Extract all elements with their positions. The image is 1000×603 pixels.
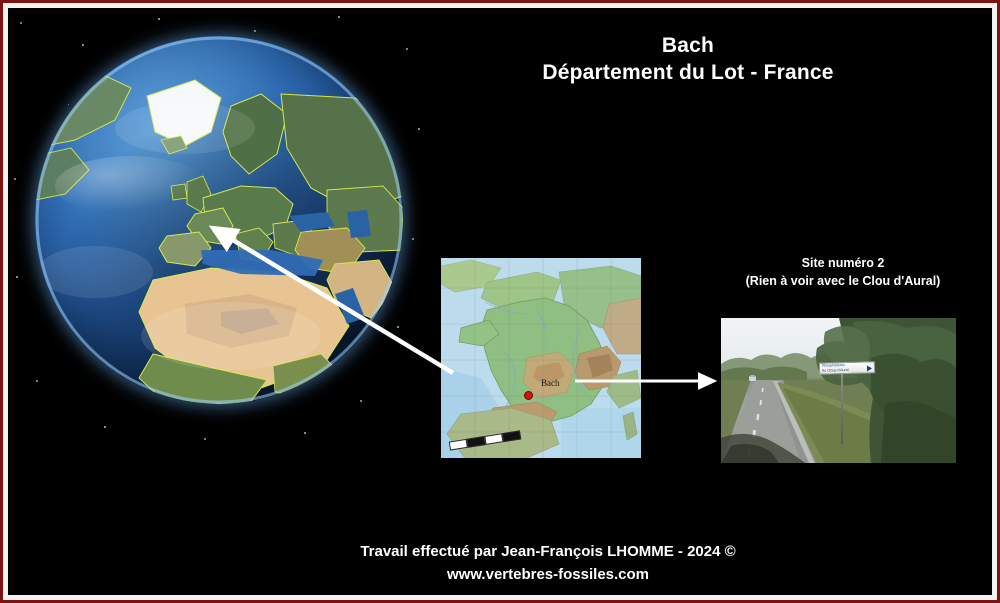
map-city-label: Bach xyxy=(541,378,560,388)
footer-website: www.vertebres-fossiles.com xyxy=(198,564,898,587)
site-caption-line1: Site numéro 2 xyxy=(698,255,988,273)
globe-panel xyxy=(8,8,428,448)
earth-globe xyxy=(35,36,403,404)
sign-text-line2: du Cloup d'Aural xyxy=(822,368,849,374)
site-photo: Phosphatières du Cloup d'Aural xyxy=(721,318,956,463)
page-title: Bach Département du Lot - France xyxy=(448,33,928,87)
footer: Travail effectué par Jean-François LHOMM… xyxy=(198,541,898,586)
footer-credit: Travail effectué par Jean-François LHOMM… xyxy=(198,541,898,564)
title-subtitle: Département du Lot - France xyxy=(448,60,928,87)
site-caption: Site numéro 2 (Rien à voir avec le Clou … xyxy=(698,255,988,291)
title-main: Bach xyxy=(448,33,928,60)
france-relief-map: Bach xyxy=(441,258,641,458)
poster-canvas: Bach xyxy=(8,8,992,595)
road-direction-sign: Phosphatières du Cloup d'Aural xyxy=(819,361,875,374)
sign-right-arrow-icon xyxy=(867,365,872,371)
sign-post xyxy=(841,374,843,444)
poster-root: Bach xyxy=(0,0,1000,603)
map-location-marker xyxy=(524,391,533,400)
site-caption-line2: (Rien à voir avec le Clou d'Aural) xyxy=(698,273,988,291)
